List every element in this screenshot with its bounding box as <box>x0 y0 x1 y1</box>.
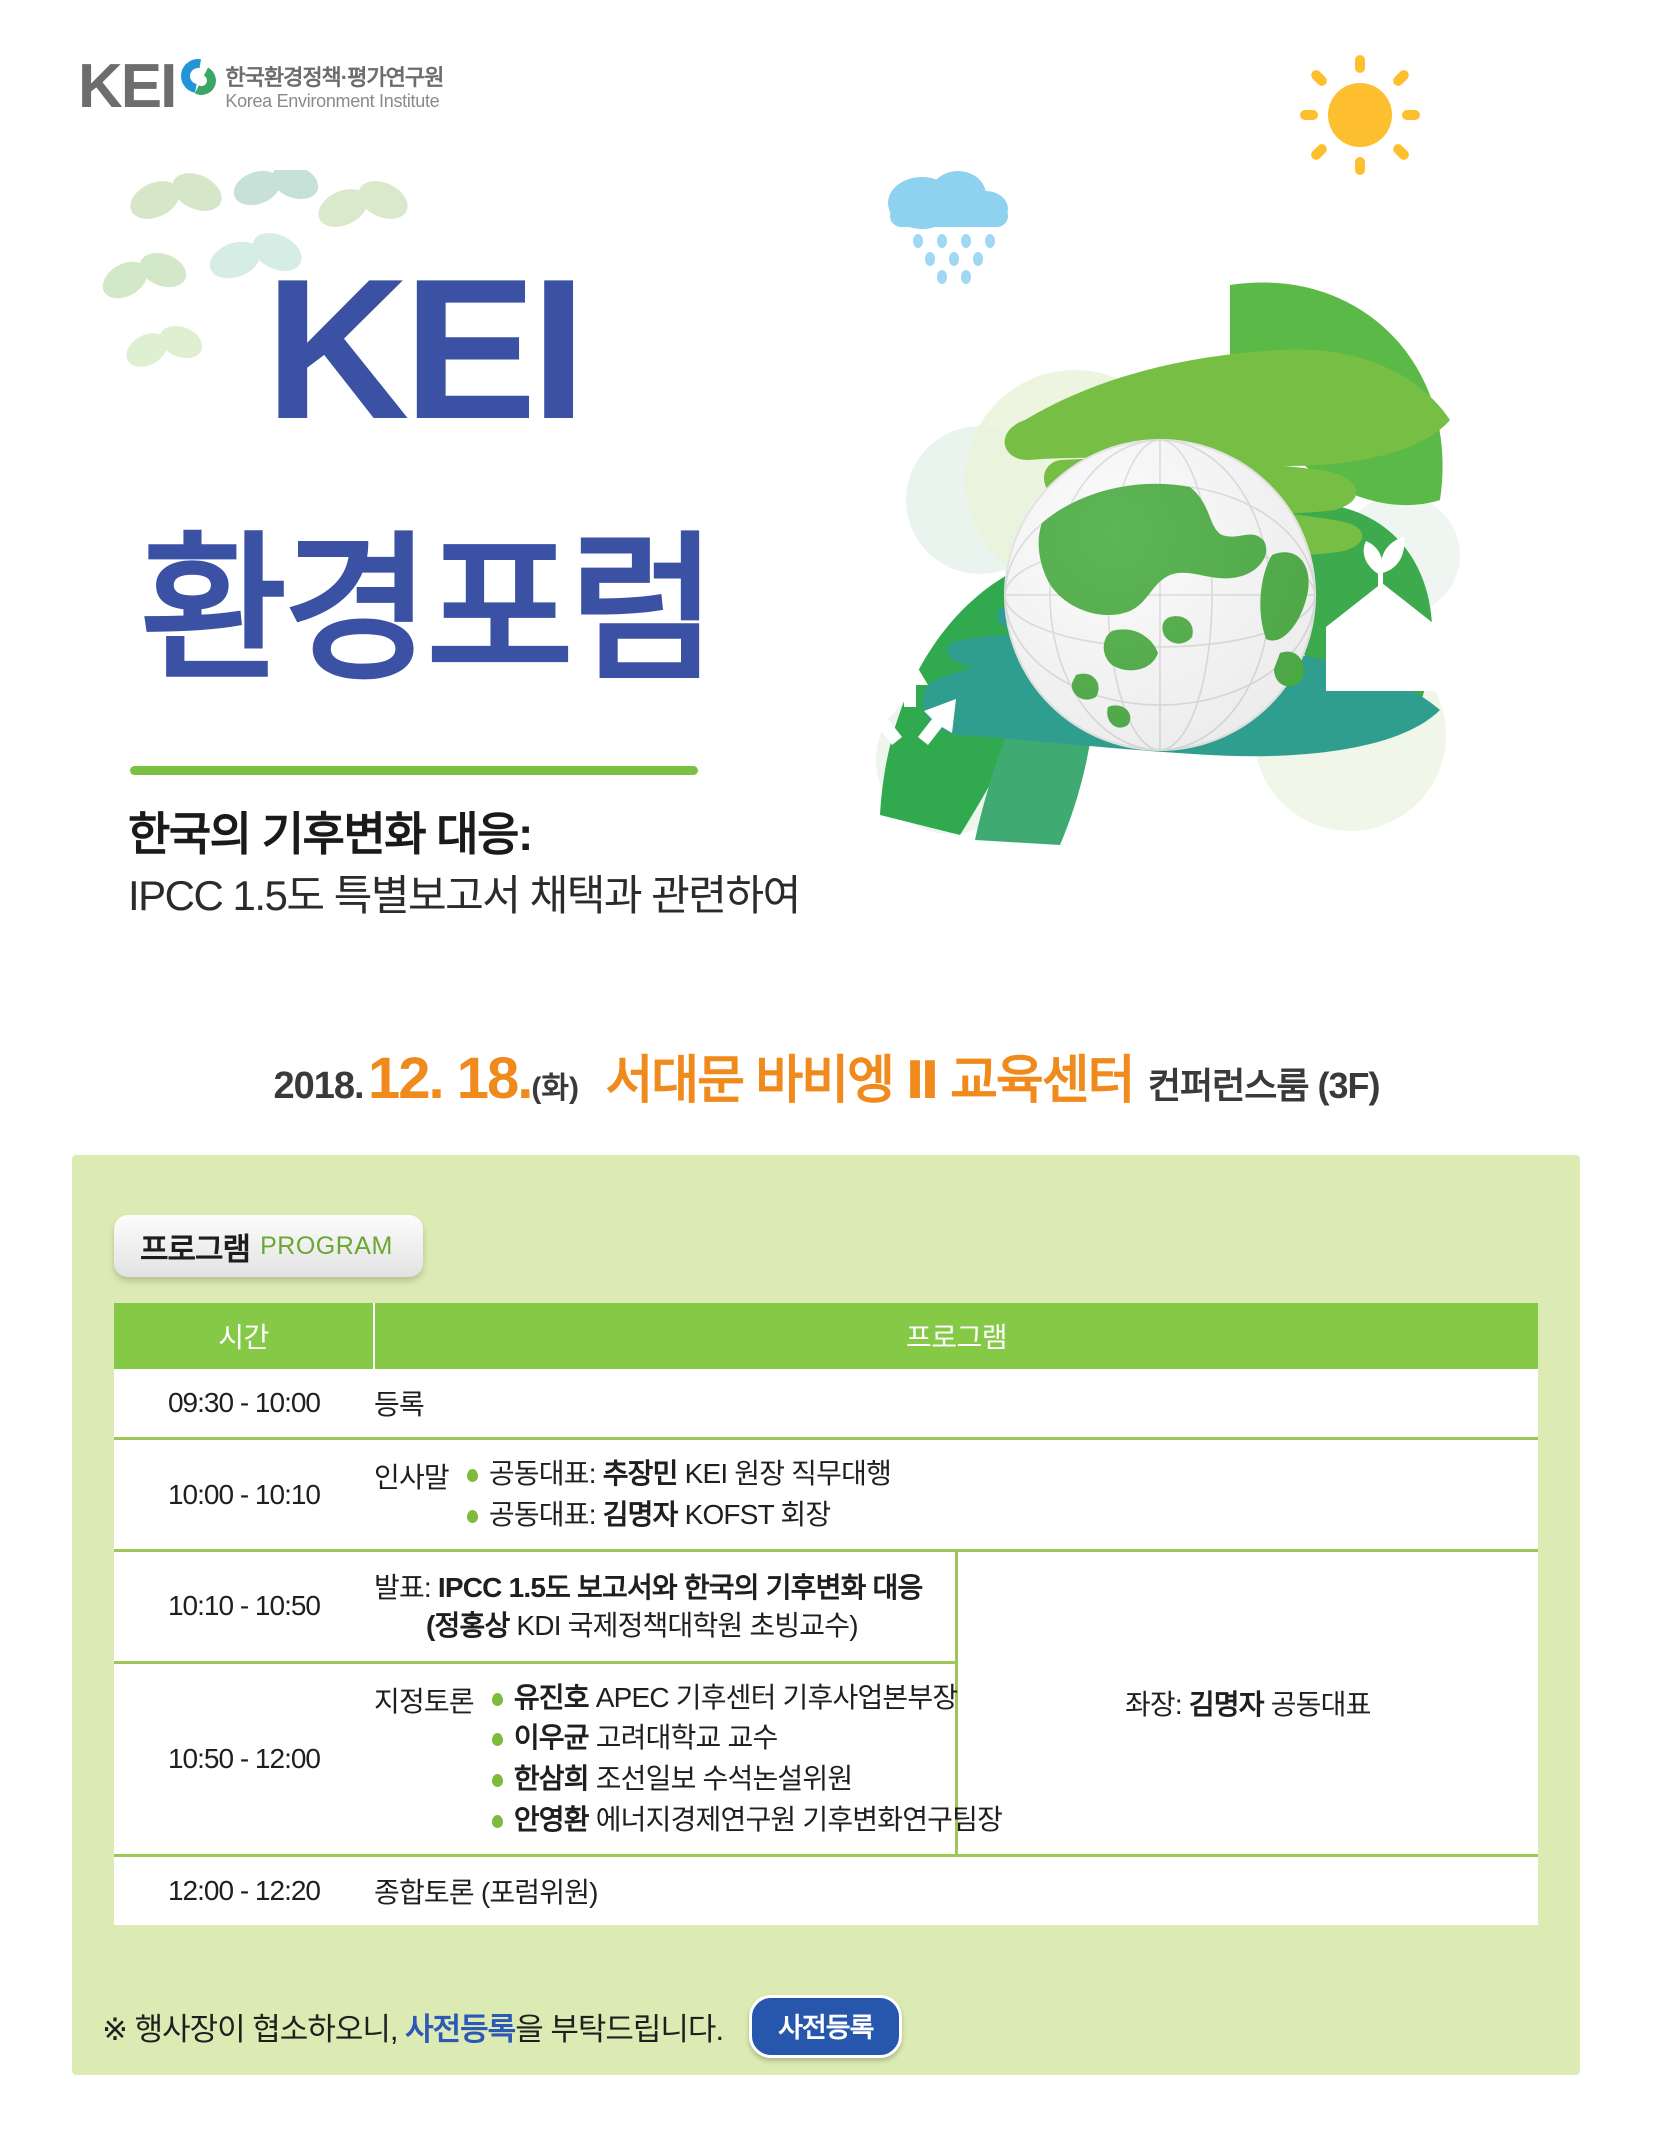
event-venue: 서대문 바비엥 Ⅱ 교육센터 <box>605 1052 1133 1110</box>
list-item: 공동대표: 김명자 KOFST 회장 <box>463 1495 891 1536</box>
row-time: 10:10 - 10:50 <box>114 1551 374 1663</box>
speaker-affiliation: KDI 국제정책대학원 초빙교수) <box>509 1610 857 1641</box>
item-role: 공동대표: <box>489 1499 603 1530</box>
item-affiliation: KOFST 회장 <box>678 1499 831 1530</box>
column-header-program: 프로그램 <box>374 1303 1538 1369</box>
event-year: 2018. <box>273 1065 363 1107</box>
event-day-of-week: (화) <box>531 1072 579 1105</box>
list-item: 안영환 에너지경제연구원 기후변화연구팀장 <box>488 1800 1002 1841</box>
chair-suffix: 공동대표 <box>1264 1689 1371 1720</box>
page-title-korean: 환경포럼 <box>140 530 713 690</box>
title-divider <box>130 766 698 775</box>
event-date-venue: 2018. 12. 18.(화) 서대문 바비엥 Ⅱ 교육센터 컨퍼런스룸 (3… <box>0 1038 1653 1113</box>
logo-institute-name: 한국환경정책·평가연구원 Korea Environment Institute <box>225 65 443 113</box>
row-time: 10:00 - 10:10 <box>114 1439 374 1551</box>
list-item: 한삼희 조선일보 수석논설위원 <box>488 1759 1002 1800</box>
panelist-affiliation: 조선일보 수석논설위원 <box>589 1763 853 1794</box>
panelist-name: 한삼희 <box>514 1763 589 1794</box>
row-label: 발표: <box>374 1572 438 1603</box>
panelist-affiliation: 에너지경제연구원 기후변화연구팀장 <box>589 1804 1002 1835</box>
list-item: 공동대표: 추장민 KEI 원장 직무대행 <box>463 1454 891 1495</box>
note-part-a: ※ 행사장이 협소하오니, <box>102 2012 405 2047</box>
table-row: 12:00 - 12:20 종합토론 (포럼위원) <box>114 1856 1538 1926</box>
logo-wordmark: KEI <box>78 58 175 117</box>
row-label: 종합토론 (포럼위원) <box>374 1877 598 1908</box>
registration-note: ※ 행사장이 협소하오니, 사전등록을 부탁드립니다. 사전등록 <box>102 1995 902 2058</box>
note-part-b: 을 부탁드립니다. <box>515 2012 723 2047</box>
eco-house-icon <box>1326 537 1438 691</box>
program-panel: 프로그램 PROGRAM 시간 프로그램 09:30 - 10:00 등록 <box>72 1155 1580 2075</box>
row-label: 지정토론 <box>374 1678 488 1720</box>
logo-name-en: Korea Environment Institute <box>225 91 443 113</box>
kei-logo: KEI 한국환경정책·평가연구원 Korea Environment Insti… <box>78 58 443 117</box>
chair-name: 김명자 <box>1189 1689 1264 1720</box>
note-text: ※ 행사장이 협소하오니, 사전등록을 부탁드립니다. <box>102 2004 723 2049</box>
event-room: 컨퍼런스룸 (3F) <box>1148 1065 1380 1106</box>
speaker-open-paren: ( <box>426 1610 435 1641</box>
chair-cell: 좌장: 김명자 공동대표 <box>956 1551 1538 1856</box>
hands-globe-illustration <box>760 255 1480 855</box>
row-time: 10:50 - 12:00 <box>114 1662 374 1855</box>
panelist-affiliation: APEC 기후센터 기후사업본부장 <box>589 1682 958 1713</box>
panelist-affiliation: 고려대학교 교수 <box>589 1722 778 1753</box>
chair-prefix: 좌장: <box>1125 1689 1189 1720</box>
panelist-name: 안영환 <box>514 1804 589 1835</box>
rain-cloud-icon <box>860 165 1040 285</box>
item-name: 김명자 <box>603 1499 678 1530</box>
list-item: 이우균 고려대학교 교수 <box>488 1718 1002 1759</box>
page-title-brand: KEI <box>265 265 580 435</box>
item-name: 추장민 <box>603 1458 678 1489</box>
sun-icon <box>1300 55 1420 175</box>
row-program: 종합토론 (포럼위원) <box>374 1856 1538 1926</box>
recycle-icon <box>864 655 956 745</box>
row-time: 09:30 - 10:00 <box>114 1369 374 1439</box>
program-table: 시간 프로그램 09:30 - 10:00 등록 10:00 - 10:10 <box>114 1303 1538 1925</box>
column-header-time: 시간 <box>114 1303 374 1369</box>
preregister-button[interactable]: 사전등록 <box>749 1995 902 2058</box>
row-program: 지정토론 유진호 APEC 기후센터 기후사업본부장 이우균 고려대학교 교수 … <box>374 1662 956 1855</box>
table-row: 09:30 - 10:00 등록 <box>114 1369 1538 1439</box>
row-time: 12:00 - 12:20 <box>114 1856 374 1926</box>
row-program: 인사말 공동대표: 추장민 KEI 원장 직무대행 공동대표: 김명자 KOFS… <box>374 1439 1538 1551</box>
table-header-row: 시간 프로그램 <box>114 1303 1538 1369</box>
presentation-title: IPCC 1.5도 보고서와 한국의 기후변화 대응 <box>438 1572 923 1603</box>
list-item: 유진호 APEC 기후센터 기후사업본부장 <box>488 1678 1002 1719</box>
row-program: 발표: IPCC 1.5도 보고서와 한국의 기후변화 대응 (정홍상 KDI … <box>374 1551 956 1663</box>
subtitle-primary: 한국의 기후변화 대응: <box>128 798 532 864</box>
note-highlight: 사전등록 <box>405 2012 515 2047</box>
item-affiliation: KEI 원장 직무대행 <box>678 1458 891 1489</box>
row-program: 등록 <box>374 1369 1538 1439</box>
program-badge: 프로그램 PROGRAM <box>114 1215 423 1277</box>
panelist-name: 이우균 <box>514 1722 589 1753</box>
panelist-name: 유진호 <box>514 1682 589 1713</box>
row-label: 인사말 <box>374 1454 463 1496</box>
row-label: 등록 <box>374 1389 424 1420</box>
poster-root: KEI 한국환경정책·평가연구원 Korea Environment Insti… <box>0 0 1653 2149</box>
program-badge-kr: 프로그램 <box>140 1224 250 1269</box>
subtitle-secondary: IPCC 1.5도 특별보고서 채택과 관련하여 <box>128 862 800 923</box>
kei-logo-mark-icon <box>181 59 215 93</box>
item-role: 공동대표: <box>489 1458 603 1489</box>
table-row: 10:00 - 10:10 인사말 공동대표: 추장민 KEI 원장 직무대행 … <box>114 1439 1538 1551</box>
logo-name-kr: 한국환경정책·평가연구원 <box>225 65 443 91</box>
speaker-name: 정홍상 <box>435 1610 510 1641</box>
table-row: 10:10 - 10:50 발표: IPCC 1.5도 보고서와 한국의 기후변… <box>114 1551 1538 1663</box>
event-month-day: 12. 18. <box>368 1046 531 1111</box>
program-badge-en: PROGRAM <box>260 1232 393 1261</box>
